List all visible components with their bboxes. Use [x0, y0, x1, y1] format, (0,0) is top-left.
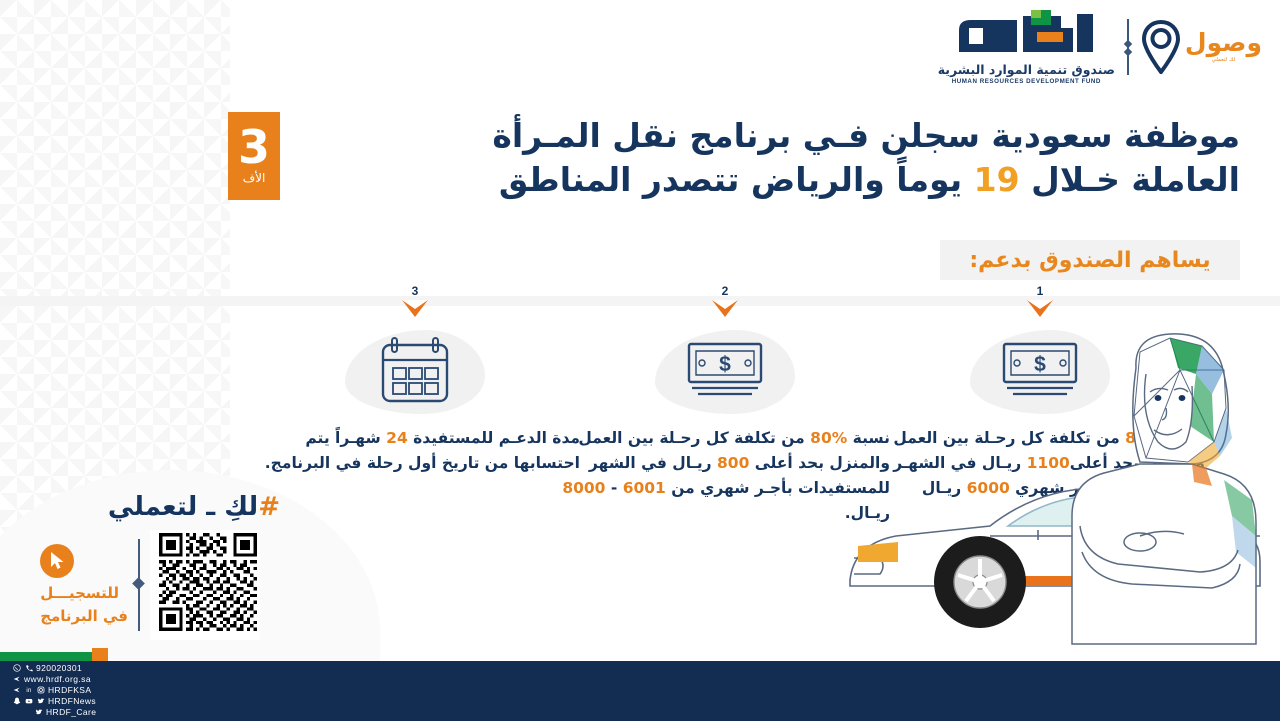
marker-3-number: 3 — [412, 284, 419, 298]
contact-row: www.hrdf.org.sa — [12, 674, 96, 684]
social-handle: HRDF_Care — [46, 707, 96, 717]
phone-number: 920020301 — [36, 663, 82, 673]
calendar-icon — [379, 336, 451, 408]
contact-row: HRDF_Care — [12, 707, 96, 717]
social-handle: HRDFKSA — [48, 685, 91, 695]
marker-1-arrow-icon — [1027, 300, 1053, 317]
wusool-logo: وصول لك لتعملي — [1141, 20, 1262, 74]
marker-1-number: 1 — [1037, 284, 1044, 298]
car-wheel — [934, 536, 1026, 628]
benefit-3-icon-area — [250, 326, 580, 418]
count-unit: الأف — [243, 171, 266, 185]
count-number: 3 — [238, 127, 270, 168]
website-url: www.hrdf.org.sa — [24, 674, 91, 684]
support-banner: يساهم الصندوق بدعم: — [940, 240, 1240, 280]
wusool-text: وصول لك لتعملي — [1185, 30, 1262, 63]
marker-2-arrow-icon — [712, 300, 738, 317]
saudi-woman-illustration — [1072, 334, 1256, 644]
headline-line-2a: العاملة خـلال — [1031, 160, 1240, 199]
marker-2-number: 2 — [722, 284, 729, 298]
youtube-icon — [24, 697, 33, 706]
wusool-tagline: لك لتعملي — [1212, 57, 1236, 63]
benefit-column-3: 3 — [250, 286, 580, 476]
social-handle: HRDFNews — [48, 696, 96, 706]
hrdf-english-name: HUMAN RESOURCES DEVELOPMENT FUND — [952, 78, 1101, 85]
footer-green-accent — [0, 652, 100, 661]
svg-text:$: $ — [1034, 353, 1046, 376]
hrdf-logo: صندوق تنمية الموارد البشرية HUMAN RESOUR… — [938, 8, 1115, 85]
phone-icon — [24, 664, 33, 673]
page-title: موظفة سعودية سجلن فـي برنامج نقل المـرأة… — [290, 112, 1240, 202]
svg-text:$: $ — [719, 353, 731, 376]
contact-row: in HRDFKSA — [12, 685, 96, 695]
support-banner-label: يساهم الصندوق بدعم: — [969, 248, 1210, 273]
snapchat-icon — [12, 697, 21, 706]
marker-1: 1 — [875, 286, 1205, 326]
telegram-icon — [12, 686, 21, 695]
contact-row: 920020301 — [12, 663, 96, 673]
headline-line-2b: يوماً والرياض تتصدر المناطق — [499, 160, 962, 199]
logo-bar: وصول لك لتعملي صندوق — [938, 8, 1262, 85]
headline-block: موظفة سعودية سجلن فـي برنامج نقل المـرأة… — [228, 112, 1240, 202]
headline-line-1: موظفة سعودية سجلن فـي برنامج نقل المـرأة — [492, 116, 1240, 155]
body-text-run: - — [605, 479, 622, 497]
highlighted-value: 8000 — [562, 479, 605, 497]
count-badge: 3 الأف — [228, 112, 280, 200]
instagram-icon — [36, 686, 45, 695]
headline-days-number: 19 — [974, 160, 1020, 199]
register-label-line1: للتسجيـــل — [40, 584, 119, 604]
registration-block: للتسجيـــل في البرنامج — [40, 530, 260, 640]
wusool-name: وصول — [1185, 30, 1262, 55]
qr-divider — [138, 539, 140, 631]
highlighted-value: 6001 — [623, 479, 666, 497]
highlighted-value: 800 — [717, 454, 749, 472]
body-text-run: مدة الدعـم للمستفيدة — [408, 429, 580, 447]
infographic-canvas: وصول لك لتعملي صندوق — [0, 0, 1280, 721]
marker-2: 2 — [560, 286, 890, 326]
twitter-icon — [36, 697, 45, 706]
whatsapp-icon — [12, 664, 21, 673]
footer-bar: 920020301 www.hrdf.org.sa in HRDFKSA — [0, 661, 1280, 721]
cursor-pointer-icon — [40, 544, 74, 578]
benefit-3-text: مدة الدعـم للمستفيدة 24 شهـراً يتم احتسا… — [250, 426, 580, 476]
hrdf-mark-icon — [951, 8, 1101, 60]
contact-list: 920020301 www.hrdf.org.sa in HRDFKSA — [12, 663, 96, 717]
campaign-hashtag: #لكِ ـ لتعملي — [60, 492, 280, 522]
twitter-icon — [34, 708, 43, 717]
marker-3-arrow-icon — [402, 300, 428, 317]
hash-symbol: # — [258, 492, 280, 522]
contact-row: HRDFNews — [12, 696, 96, 706]
highlighted-value: 24 — [386, 429, 408, 447]
wusool-pin-icon — [1141, 20, 1181, 74]
svg-text:in: in — [26, 688, 31, 694]
banknote-icon: $ — [686, 341, 764, 403]
logo-divider — [1127, 19, 1129, 75]
register-label-line2: في البرنامج — [40, 607, 128, 627]
banknote-icon: $ — [1001, 341, 1079, 403]
hashtag-text: لكِ ـ لتعملي — [108, 492, 258, 522]
linkedin-icon: in — [24, 686, 33, 695]
marker-3: 3 — [250, 286, 580, 326]
register-cta[interactable]: للتسجيـــل في البرنامج — [40, 544, 128, 627]
globe-icon — [12, 675, 21, 684]
hrdf-arabic-name: صندوق تنمية الموارد البشرية — [938, 62, 1115, 77]
registration-qr-code[interactable] — [150, 530, 260, 640]
